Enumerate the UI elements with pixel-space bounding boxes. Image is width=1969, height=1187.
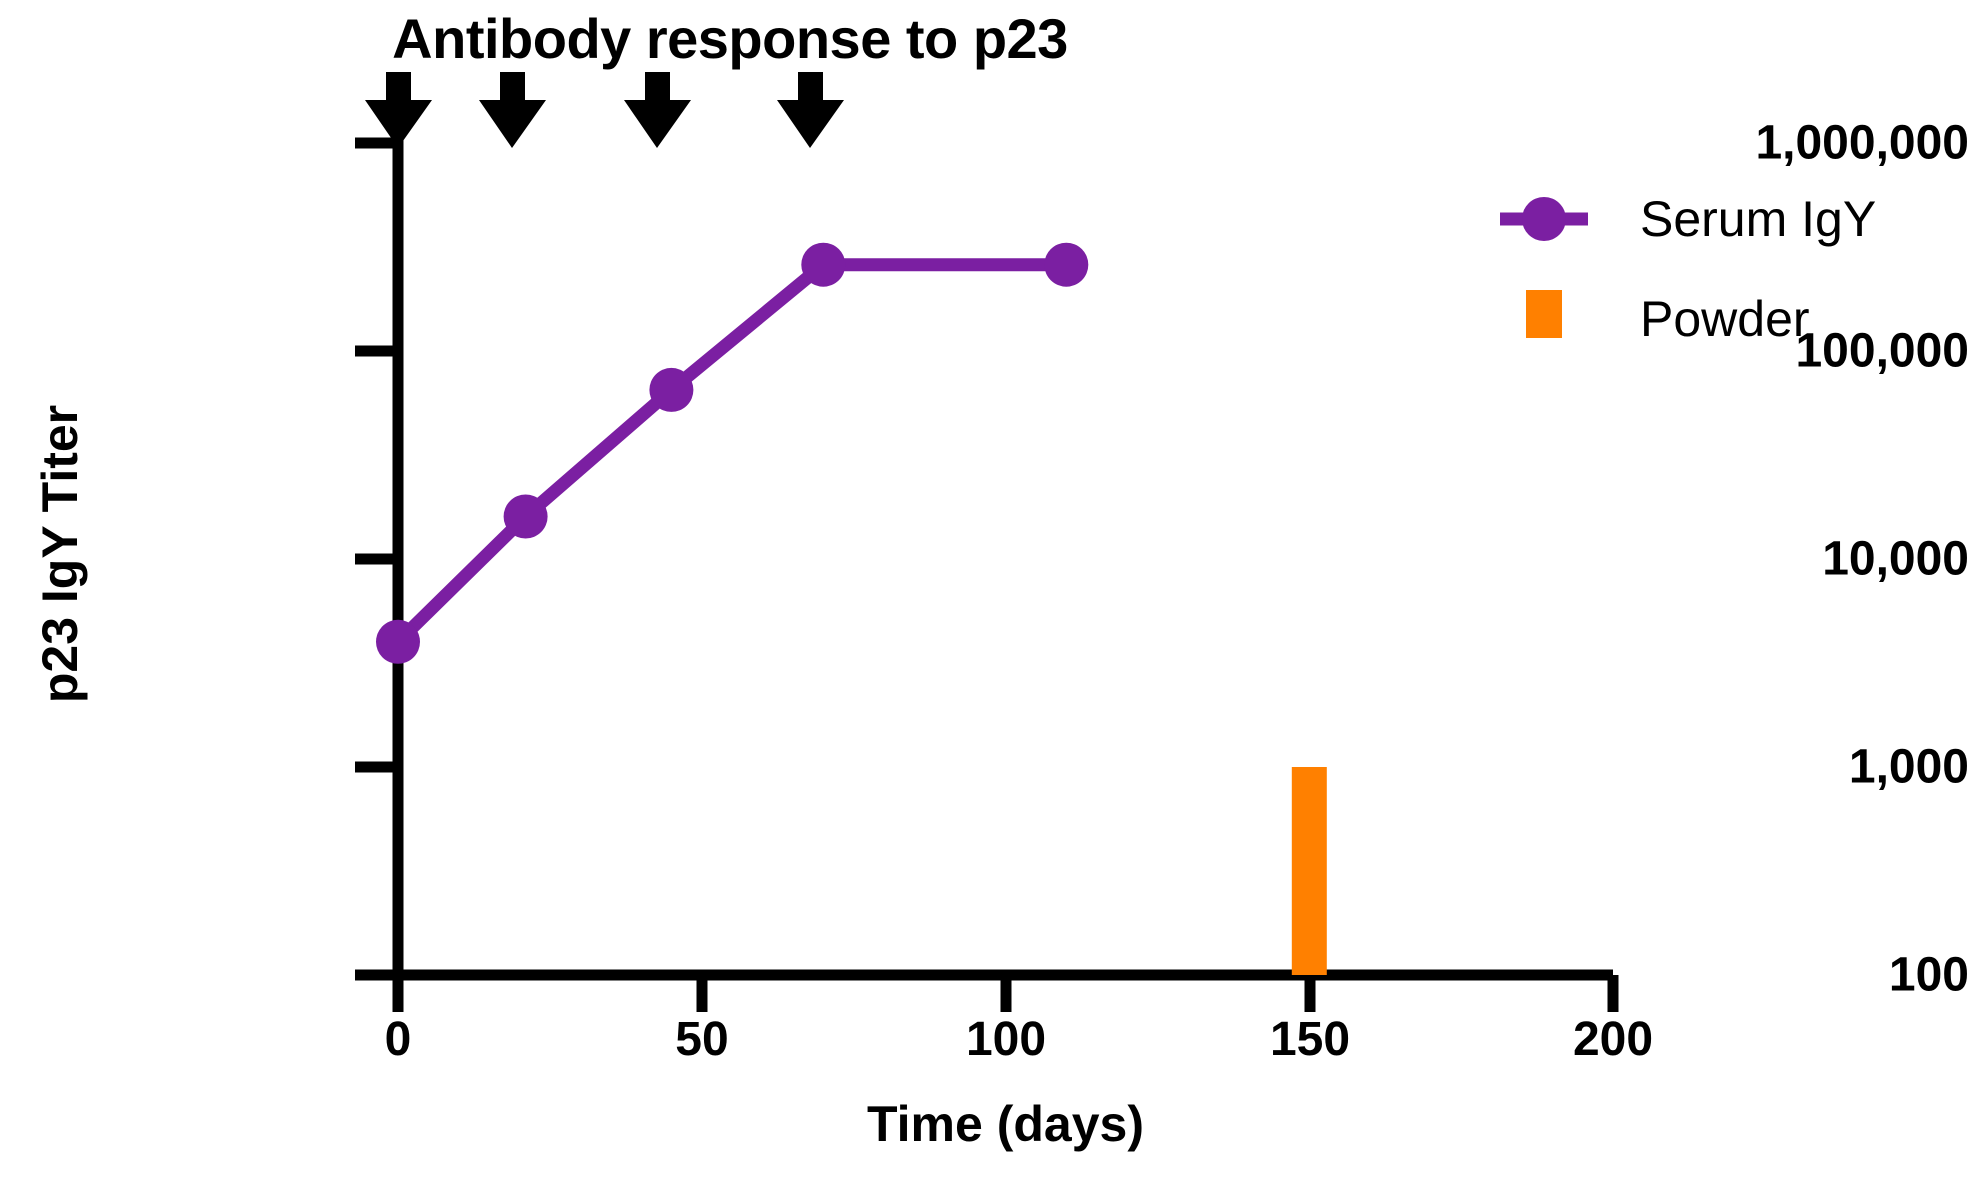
immunization-arrow-icon (624, 72, 691, 148)
serum-igy-markers (376, 243, 1088, 664)
immunization-arrow-icon-group (365, 72, 844, 148)
serum-igy-line (398, 265, 1066, 642)
data-point-marker (376, 620, 420, 664)
chart-figure: Antibody response to p23 p23 IgY Titer T… (0, 0, 1969, 1187)
powder-bar (1292, 767, 1327, 975)
immunization-arrow-icon (479, 72, 546, 148)
legend-powder-marker (1526, 290, 1562, 338)
legend-item-serum-igy[interactable]: Serum IgY (1640, 190, 1876, 248)
immunization-arrow-icon (777, 72, 844, 148)
data-point-marker (801, 243, 845, 287)
data-point-marker (504, 495, 548, 539)
plot-area (0, 0, 1969, 1187)
data-point-marker (649, 368, 693, 412)
immunization-arrow-icon (365, 72, 432, 148)
y-axis-ticks (355, 143, 398, 975)
legend-serum-marker (1500, 197, 1588, 241)
data-point-marker (1044, 243, 1088, 287)
x-axis-ticks (398, 975, 1613, 1012)
legend-item-powder[interactable]: Powder (1640, 290, 1810, 348)
